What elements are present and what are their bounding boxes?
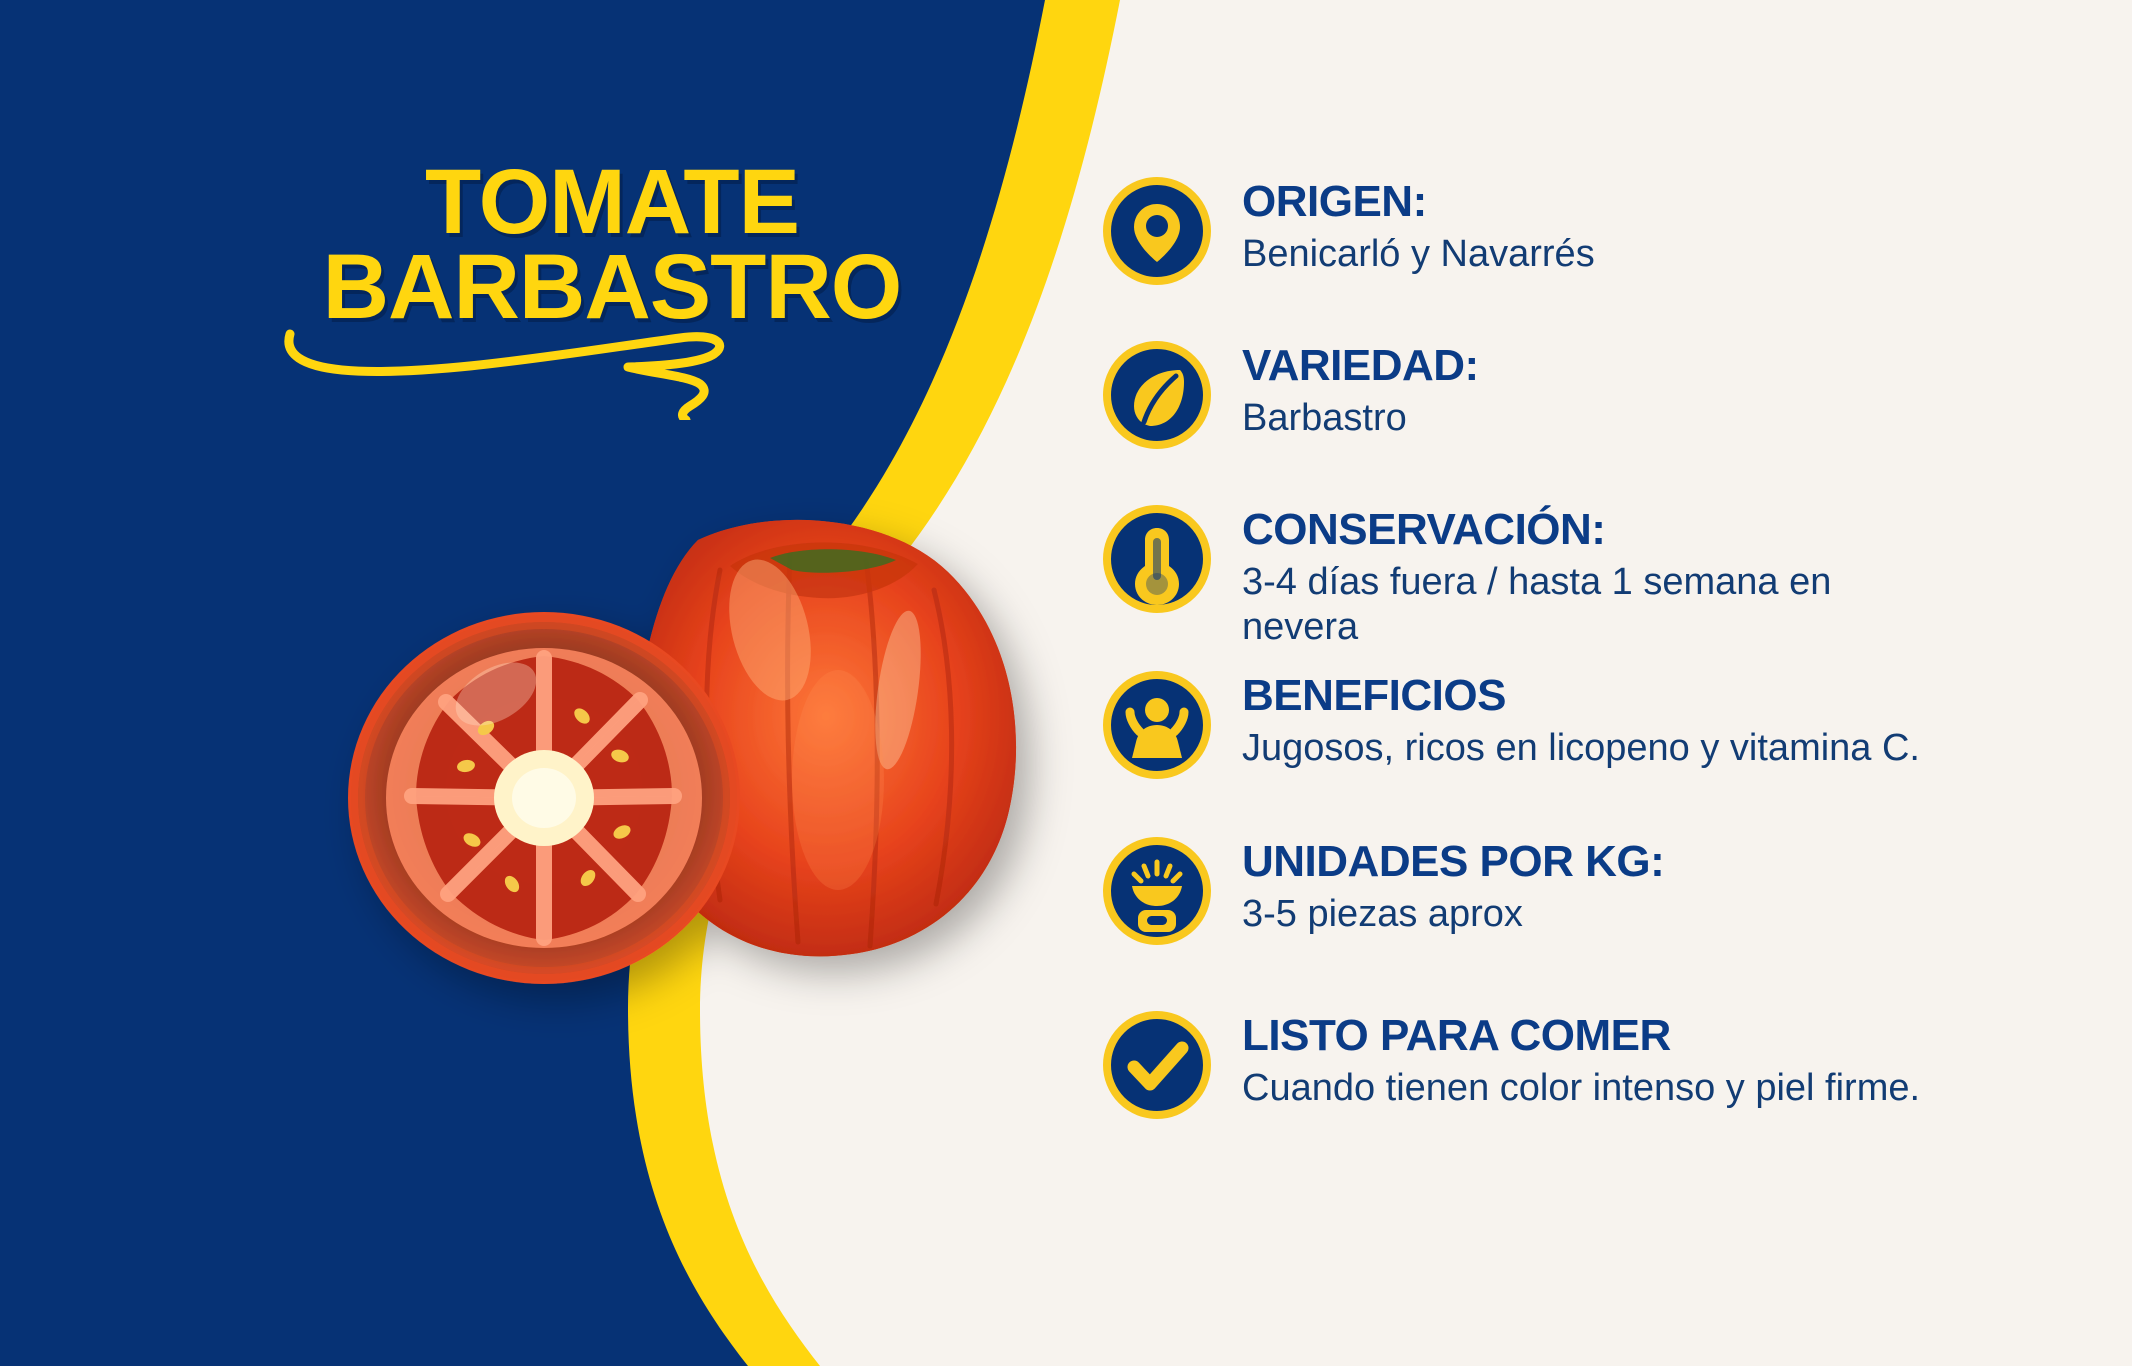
info-text-conservacion: CONSERVACIÓN: 3-4 días fuera / hasta 1 s…: [1242, 504, 1942, 650]
info-row-conservacion[interactable]: CONSERVACIÓN: 3-4 días fuera / hasta 1 s…: [1102, 504, 1942, 650]
kitchen-scale-icon: [1102, 836, 1212, 946]
info-row-unidades[interactable]: UNIDADES POR KG: 3-5 piezas aprox: [1102, 836, 1664, 946]
info-heading: UNIDADES POR KG:: [1242, 840, 1664, 884]
info-body: Benicarló y Navarrés: [1242, 232, 1595, 277]
leaf-icon: [1102, 340, 1212, 450]
info-row-beneficios[interactable]: BENEFICIOS Jugosos, ricos en licopeno y …: [1102, 670, 1920, 780]
title-line-1: TOMATE: [282, 160, 942, 245]
info-row-listo[interactable]: LISTO PARA COMER Cuando tienen color int…: [1102, 1010, 1920, 1120]
infographic-canvas: TOMATE BARBASTRO: [0, 0, 2132, 1366]
info-text-beneficios: BENEFICIOS Jugosos, ricos en licopeno y …: [1242, 670, 1920, 771]
info-heading: LISTO PARA COMER: [1242, 1014, 1920, 1058]
info-text-origen: ORIGEN: Benicarló y Navarrés: [1242, 176, 1595, 277]
info-text-listo: LISTO PARA COMER Cuando tienen color int…: [1242, 1010, 1920, 1111]
info-body: 3-4 días fuera / hasta 1 semana en never…: [1242, 560, 1942, 650]
info-heading: CONSERVACIÓN:: [1242, 508, 1942, 552]
person-raised-arms-icon: [1102, 670, 1212, 780]
info-body: Jugosos, ricos en licopeno y vitamina C.: [1242, 726, 1920, 771]
thermometer-icon: [1102, 504, 1212, 614]
tomato-photo: [300, 480, 1120, 1040]
swirl-underline-icon: [276, 310, 746, 420]
check-mark-icon: [1102, 1010, 1212, 1120]
info-row-origen[interactable]: ORIGEN: Benicarló y Navarrés: [1102, 176, 1595, 286]
info-body: Barbastro: [1242, 396, 1479, 441]
info-text-variedad: VARIEDAD: Barbastro: [1242, 340, 1479, 441]
info-heading: ORIGEN:: [1242, 180, 1595, 224]
info-text-unidades: UNIDADES POR KG: 3-5 piezas aprox: [1242, 836, 1664, 937]
location-pin-icon: [1102, 176, 1212, 286]
info-row-variedad[interactable]: VARIEDAD: Barbastro: [1102, 340, 1479, 450]
info-heading: VARIEDAD:: [1242, 344, 1479, 388]
title-block: TOMATE BARBASTRO: [282, 160, 942, 329]
info-heading: BENEFICIOS: [1242, 674, 1920, 718]
info-body: 3-5 piezas aprox: [1242, 892, 1664, 937]
info-body: Cuando tienen color intenso y piel firme…: [1242, 1066, 1920, 1111]
